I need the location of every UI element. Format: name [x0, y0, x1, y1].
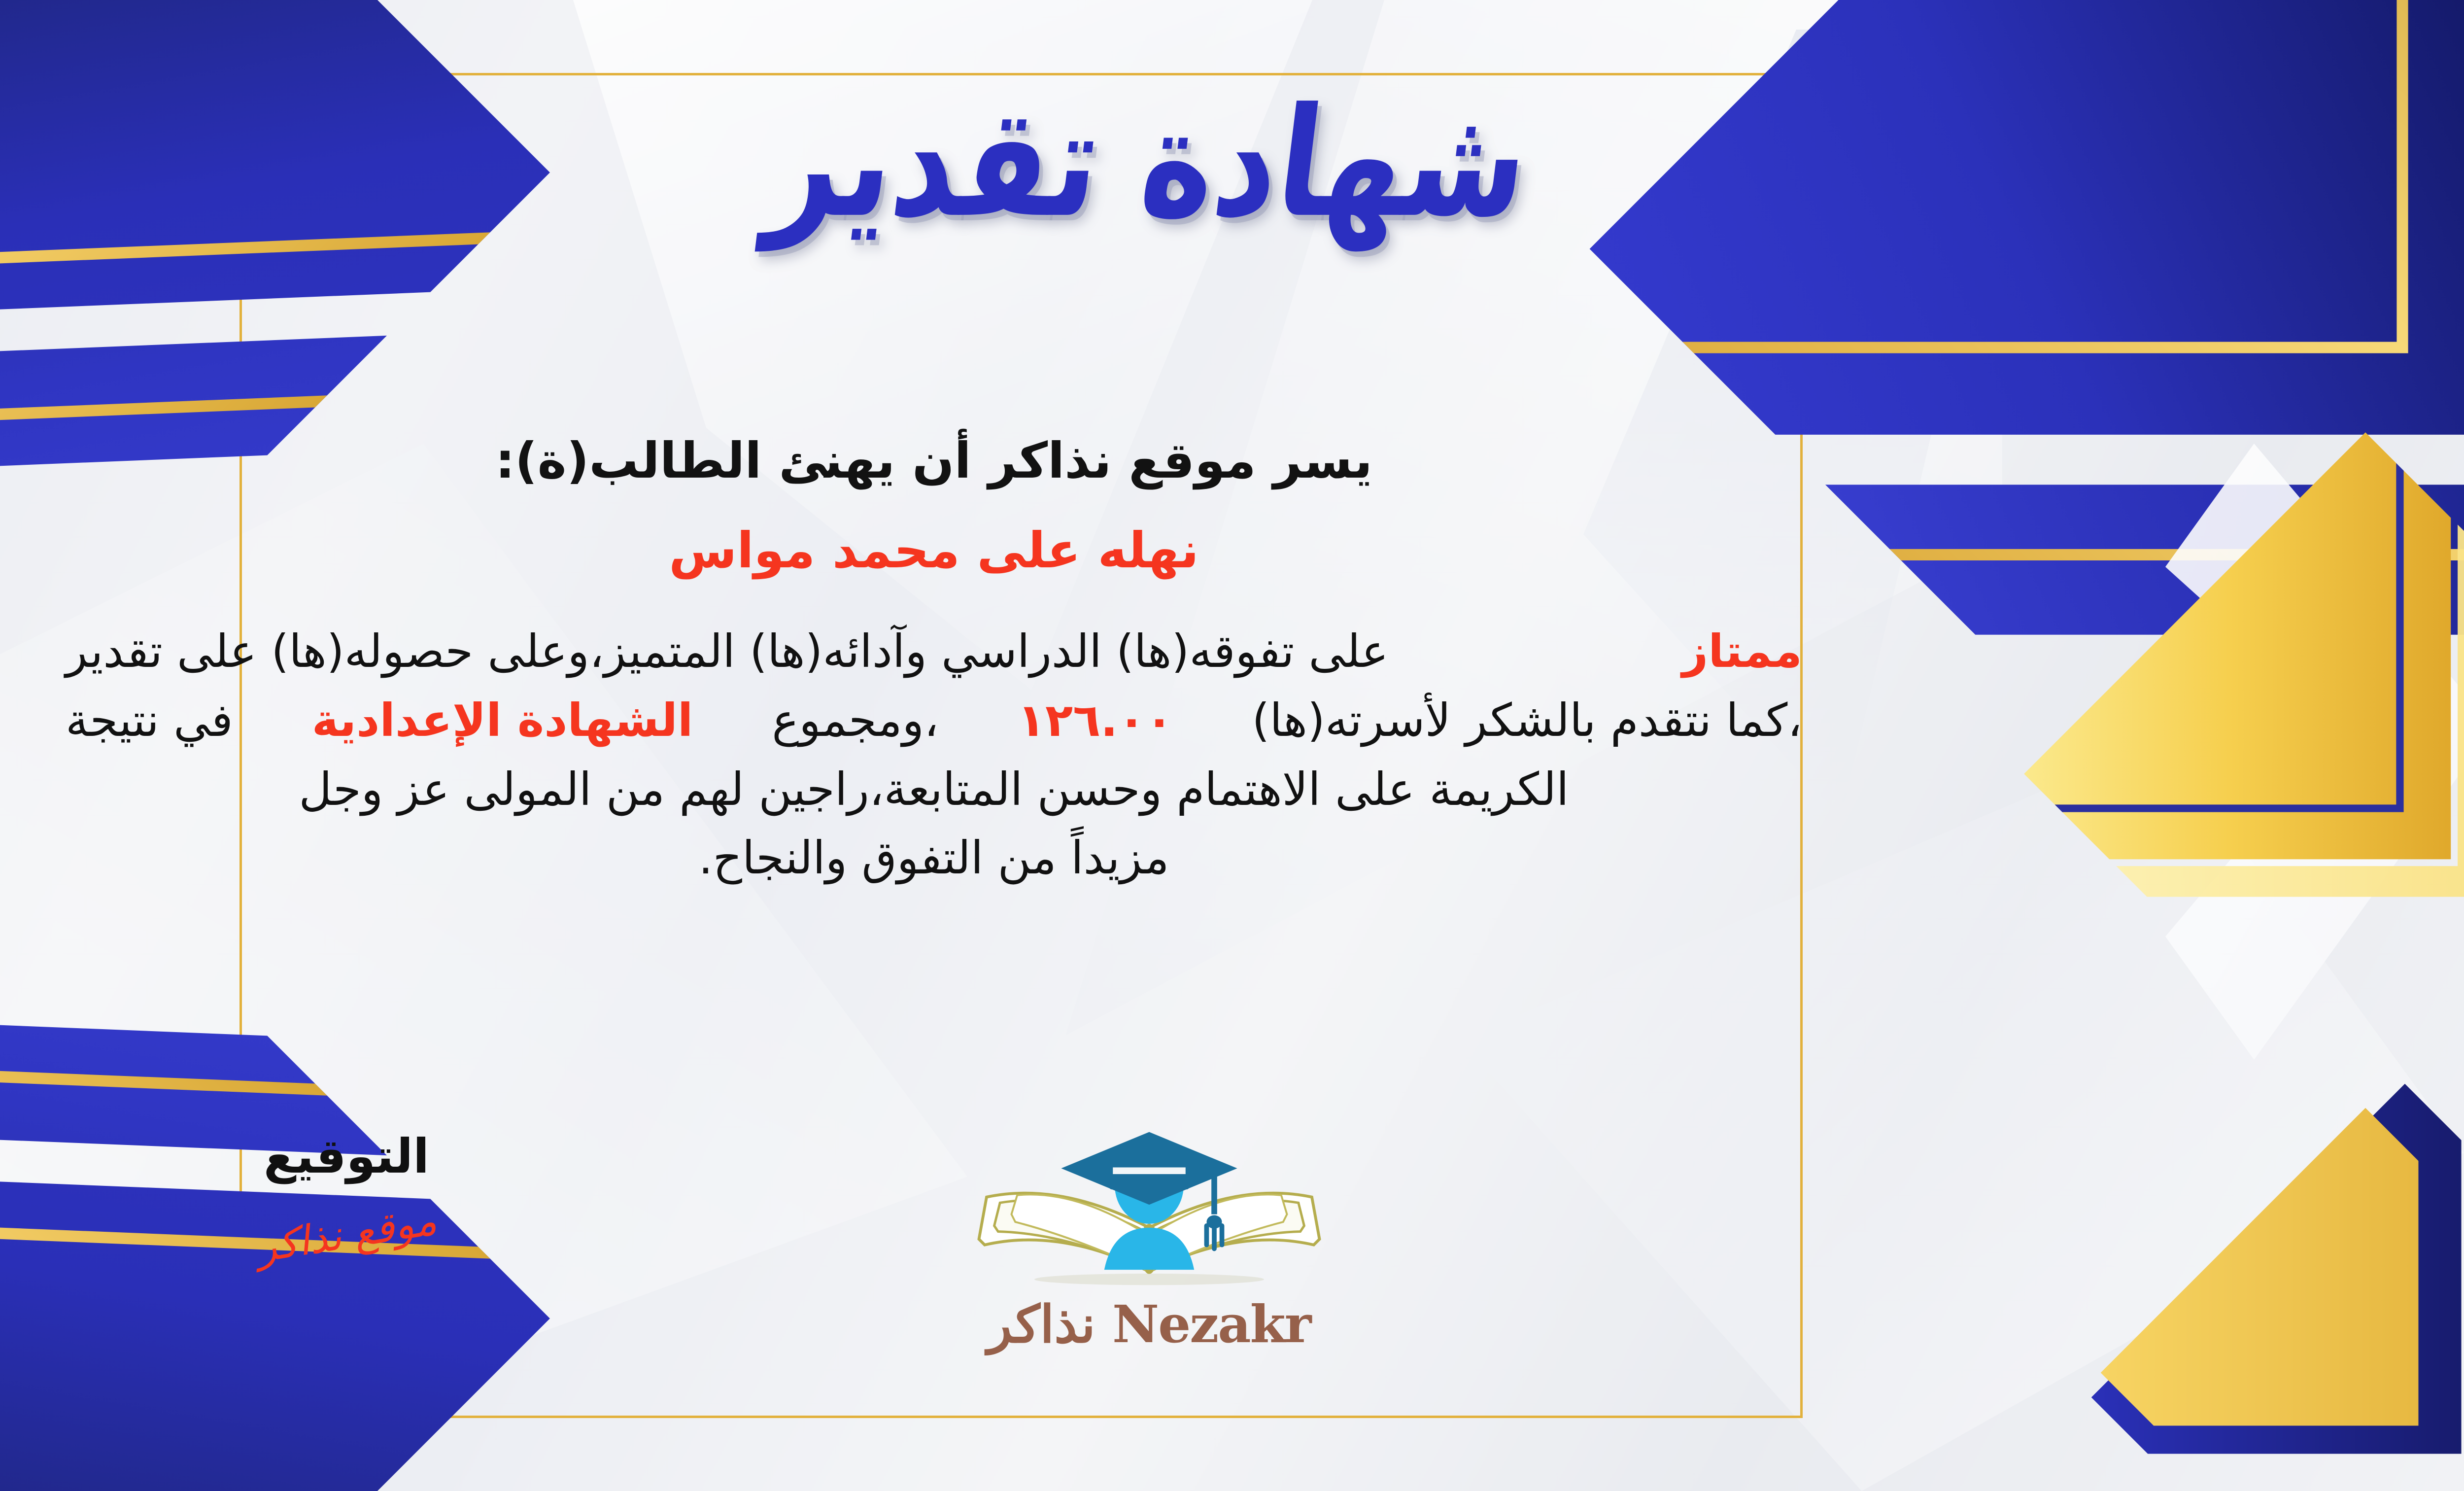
certificate-body: يسر موقع نذاكر أن يهنئ الطالب(ة): نهله ع…: [66, 424, 1802, 893]
graduate-book-icon: [962, 1126, 1336, 1289]
citation-line-1: ممتاز على تفوقه(ها) الدراسي وآدائه(ها) ا…: [66, 617, 1802, 686]
citation-line-2-head: في نتيجة: [66, 686, 233, 755]
citation-paragraph: ممتاز على تفوقه(ها) الدراسي وآدائه(ها) ا…: [66, 617, 1802, 893]
ornament-gold-chevron-right: [2124, 532, 2464, 1015]
certificate-title: شهادة تقدير: [759, 69, 1539, 257]
greeting-line: يسر موقع نذاكر أن يهنئ الطالب(ة):: [66, 424, 1802, 498]
brand-logo: Nezakr نذاكر: [962, 1126, 1336, 1354]
signature-block: التوقيع موقع نذاكر: [208, 1129, 484, 1258]
signature-label: التوقيع: [208, 1129, 484, 1184]
citation-line-2-mid: ،ومجموع: [772, 686, 938, 755]
citation-line-2: ،كما نتقدم بالشكر لأسرته(ها) ١٢٦.٠٠ ،ومج…: [66, 686, 1802, 755]
exam-name-value: الشهادة الإعدادية: [312, 686, 693, 755]
student-name: نهله على محمد مواس: [66, 514, 1802, 588]
logo-wordmark: Nezakr نذاكر: [962, 1294, 1336, 1354]
citation-line-1-text: على تفوقه(ها) الدراسي وآدائه(ها) المتميز…: [66, 617, 1389, 686]
total-score-value: ١٢٦.٠٠: [1018, 686, 1173, 755]
citation-line-2-tail: ،كما نتقدم بالشكر لأسرته(ها): [1252, 686, 1803, 755]
grade-value: ممتاز: [1682, 617, 1802, 686]
certificate-canvas: شهادة تقدير يسر موقع نذاكر أن يهنئ الطال…: [0, 0, 2464, 1491]
citation-line-3: الكريمة على الاهتمام وحسن المتابعة،راجين…: [66, 755, 1802, 824]
title-block: شهادة تقدير: [0, 86, 2464, 241]
citation-line-4: مزيداً من التفوق والنجاح.: [66, 824, 1802, 893]
